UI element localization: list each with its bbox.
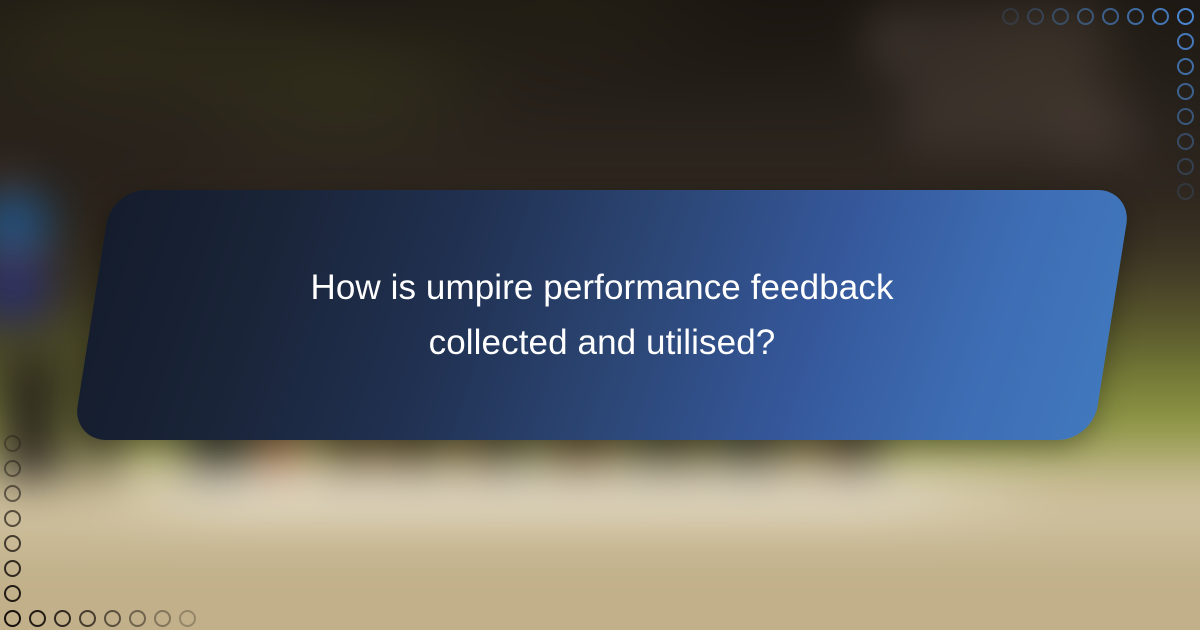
decoration-dot	[1052, 8, 1069, 25]
decoration-dot	[1177, 58, 1194, 75]
decoration-dot	[1177, 83, 1194, 100]
decoration-dot	[154, 610, 171, 627]
decoration-dot	[1177, 108, 1194, 125]
decoration-dot	[4, 510, 21, 527]
headline-text-block: How is umpire performance feedback colle…	[92, 190, 1112, 440]
decoration-dot	[1077, 8, 1094, 25]
decoration-dot	[4, 485, 21, 502]
decoration-dot	[1177, 183, 1194, 200]
decoration-dot	[1152, 8, 1169, 25]
decoration-dot	[29, 610, 46, 627]
decoration-dot	[179, 610, 196, 627]
headline-line-1: How is umpire performance feedback	[310, 260, 893, 315]
decoration-dot	[54, 610, 71, 627]
decoration-dots-top-right	[995, 0, 1200, 205]
decoration-dot	[4, 560, 21, 577]
decoration-dot	[4, 460, 21, 477]
headline-line-2: collected and utilised?	[429, 315, 776, 370]
decoration-dot	[1102, 8, 1119, 25]
decoration-dot	[104, 610, 121, 627]
decoration-dot	[129, 610, 146, 627]
decoration-dot	[1177, 158, 1194, 175]
decoration-dot	[4, 585, 21, 602]
og-image-canvas: How is umpire performance feedback colle…	[0, 0, 1200, 630]
decoration-dot	[79, 610, 96, 627]
decoration-dot	[4, 435, 21, 452]
decoration-dots-bottom-left	[0, 425, 205, 630]
decoration-dot	[1027, 8, 1044, 25]
decoration-dot	[4, 610, 21, 627]
decoration-dot	[1127, 8, 1144, 25]
decoration-dot	[1002, 8, 1019, 25]
decoration-dot	[1177, 8, 1194, 25]
decoration-dot	[1177, 133, 1194, 150]
decoration-dot	[4, 535, 21, 552]
decoration-dot	[1177, 33, 1194, 50]
